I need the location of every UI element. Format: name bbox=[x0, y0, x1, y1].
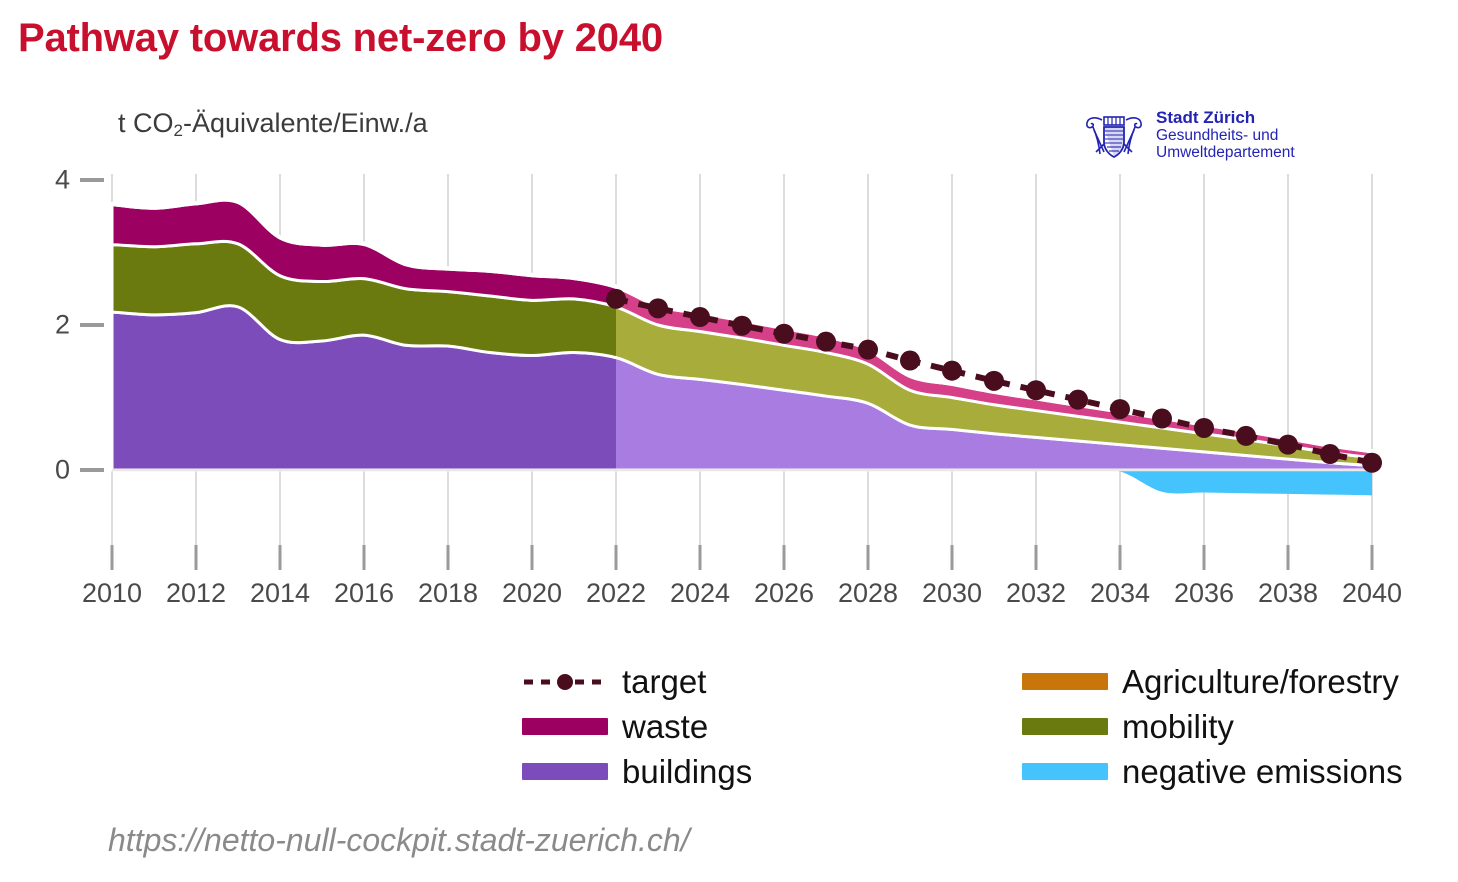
x-axis-tick-label: 2040 bbox=[1342, 578, 1402, 609]
legend-negative-emissions-label: negative emissions bbox=[1122, 755, 1403, 788]
legend-buildings[interactable]: buildings bbox=[522, 755, 752, 788]
x-axis-tick-label: 2010 bbox=[82, 578, 142, 609]
target-marker bbox=[774, 324, 794, 344]
y-axis-tick-label: 0 bbox=[30, 455, 70, 486]
target-marker bbox=[1110, 399, 1130, 419]
target-marker bbox=[1236, 426, 1256, 446]
target-marker bbox=[606, 289, 626, 309]
legend-agriculture[interactable]: Agriculture/forestry bbox=[1022, 665, 1399, 698]
y-axis-tick-label: 4 bbox=[30, 165, 70, 196]
legend-negative-emissions[interactable]: negative emissions bbox=[1022, 755, 1403, 788]
chart-legend: targetAgriculture/forestrywastemobilityb… bbox=[0, 655, 1458, 790]
x-axis-tick-label: 2026 bbox=[754, 578, 814, 609]
legend-mobility-label: mobility bbox=[1122, 710, 1234, 743]
x-axis-tick-label: 2022 bbox=[586, 578, 646, 609]
target-marker bbox=[1194, 418, 1214, 438]
x-axis-tick-label: 2030 bbox=[922, 578, 982, 609]
target-marker bbox=[900, 351, 920, 371]
legend-waste[interactable]: waste bbox=[522, 710, 708, 743]
x-axis-tick-label: 2016 bbox=[334, 578, 394, 609]
legend-target[interactable]: target bbox=[522, 665, 706, 698]
target-marker bbox=[984, 371, 1004, 391]
legend-mobility[interactable]: mobility bbox=[1022, 710, 1234, 743]
x-axis-tick-label: 2020 bbox=[502, 578, 562, 609]
legend-buildings-label: buildings bbox=[622, 755, 752, 788]
target-marker bbox=[1152, 409, 1172, 429]
target-marker bbox=[648, 298, 668, 318]
x-axis-tick-label: 2034 bbox=[1090, 578, 1150, 609]
x-axis-tick-label: 2036 bbox=[1174, 578, 1234, 609]
target-marker bbox=[858, 340, 878, 360]
target-marker bbox=[816, 332, 836, 352]
legend-buildings-swatch bbox=[522, 763, 608, 780]
target-marker bbox=[942, 361, 962, 381]
legend-negative-emissions-swatch bbox=[1022, 763, 1108, 780]
x-axis-tick-label: 2038 bbox=[1258, 578, 1318, 609]
legend-waste-label: waste bbox=[622, 710, 708, 743]
target-marker bbox=[732, 316, 752, 336]
x-axis-tick-label: 2024 bbox=[670, 578, 730, 609]
target-marker bbox=[1320, 444, 1340, 464]
chart-page: Pathway towards net-zero by 2040 t CO2-Ä… bbox=[0, 0, 1458, 882]
x-axis-tick-label: 2012 bbox=[166, 578, 226, 609]
legend-waste-swatch bbox=[522, 718, 608, 735]
target-marker bbox=[1026, 380, 1046, 400]
legend-agriculture-label: Agriculture/forestry bbox=[1122, 665, 1399, 698]
target-marker bbox=[690, 307, 710, 327]
x-axis-tick-label: 2018 bbox=[418, 578, 478, 609]
x-axis-tick-label: 2032 bbox=[1006, 578, 1066, 609]
legend-mobility-swatch bbox=[1022, 718, 1108, 735]
target-marker bbox=[1068, 390, 1088, 410]
target-marker bbox=[1278, 435, 1298, 455]
source-url: https://netto-null-cockpit.stadt-zuerich… bbox=[108, 822, 690, 859]
x-axis-tick-label: 2028 bbox=[838, 578, 898, 609]
legend-target-label: target bbox=[622, 665, 706, 698]
x-axis-tick-label: 2014 bbox=[250, 578, 310, 609]
area-band-negative-emissions bbox=[112, 469, 1372, 495]
target-line-icon bbox=[522, 672, 608, 692]
y-axis-tick-label: 2 bbox=[30, 310, 70, 341]
target-marker bbox=[1362, 453, 1382, 473]
legend-agriculture-swatch bbox=[1022, 673, 1108, 690]
